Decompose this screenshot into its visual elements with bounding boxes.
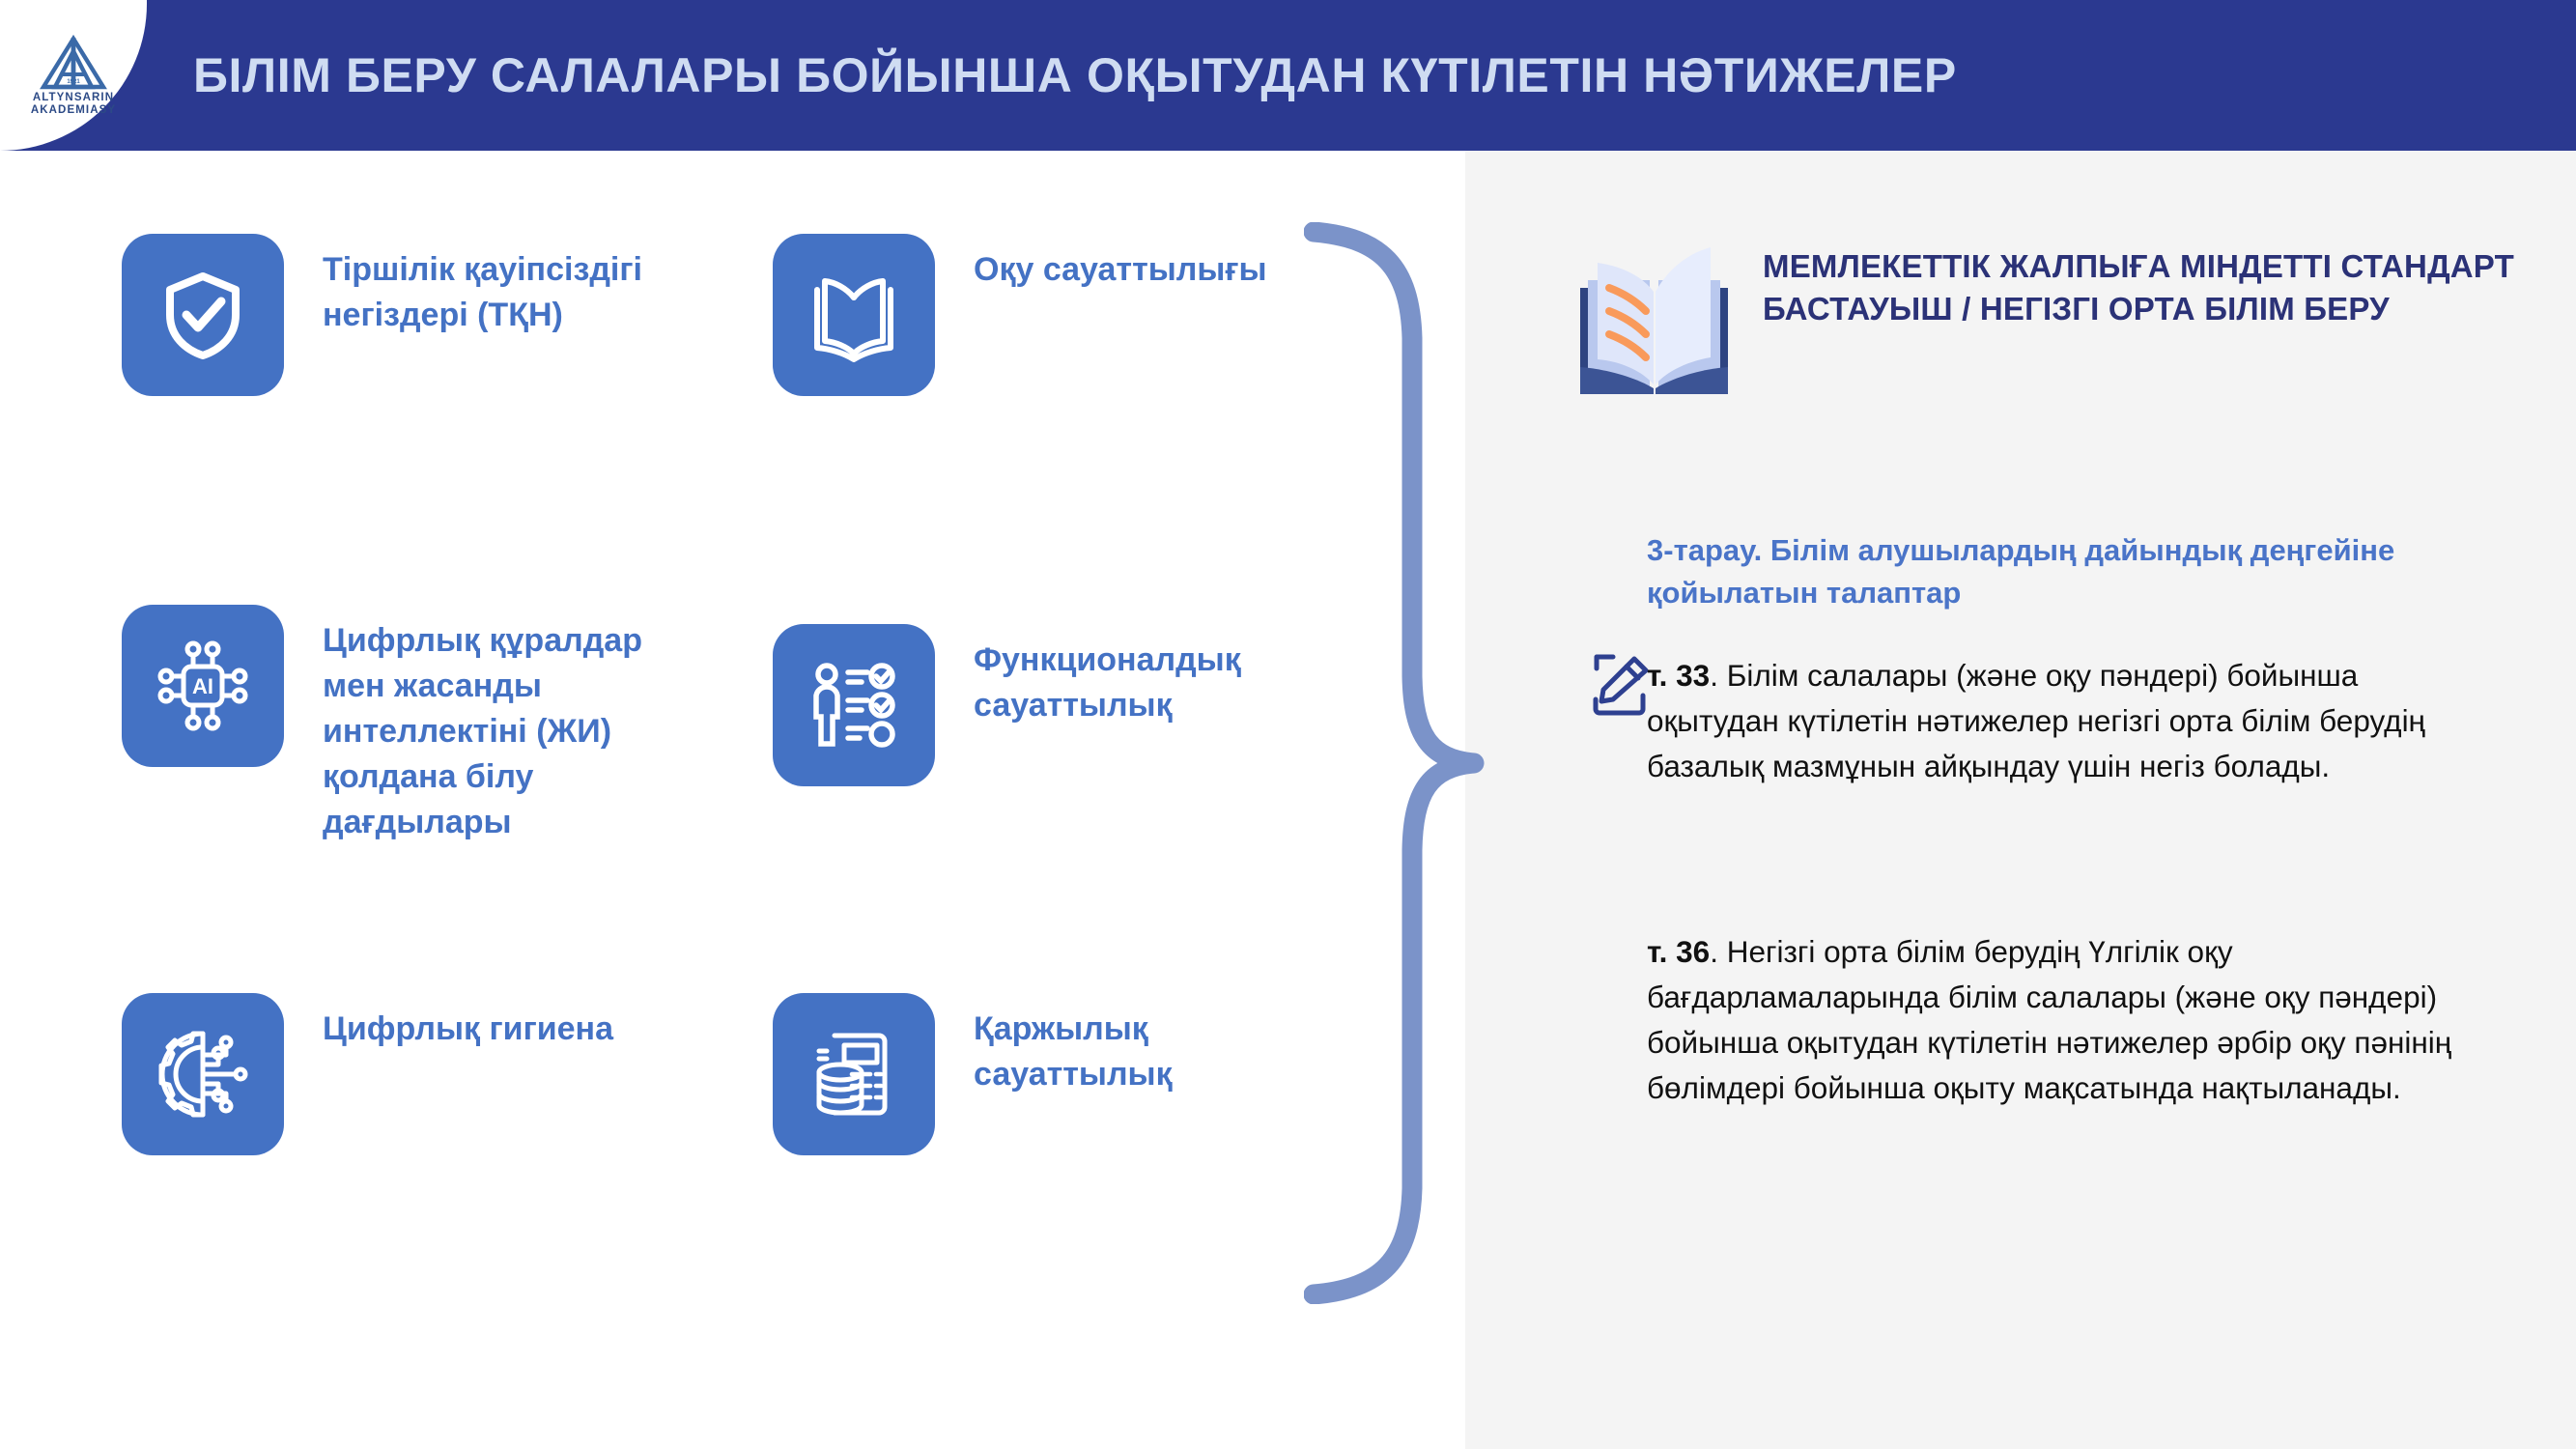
paragraph-marker: т. 36 <box>1647 934 1710 969</box>
competency-tile <box>773 234 935 396</box>
person-checklist-icon <box>804 655 904 755</box>
competency-tile <box>122 993 284 1155</box>
logo-line-2: AKADEMIASY <box>31 104 116 117</box>
competency-label: Функционалдық сауаттылық <box>974 624 1321 728</box>
competency-item-ai-tools[interactable]: AI Цифрлық құралдар мен жасанды интеллек… <box>122 605 670 845</box>
svg-text:AI: AI <box>192 674 213 698</box>
paragraph-text: . Білім салалары (және оқу пәндері) бойы… <box>1647 658 2425 783</box>
competency-item-life-safety[interactable]: Тіршілік қауіпсіздігі негіздері (ТҚН) <box>122 234 670 396</box>
competency-item-digital-hygiene[interactable]: Цифрлық гигиена <box>122 993 613 1155</box>
shield-check-icon <box>153 265 253 365</box>
competency-label: Цифрлық гигиена <box>323 993 613 1052</box>
competency-label: Қаржылық сауаттылық <box>974 993 1321 1097</box>
competency-grid: Тіршілік қауіпсіздігі негіздері (ТҚН) Оқ… <box>0 151 1465 1449</box>
logo-year: 1921 <box>67 79 80 85</box>
ai-chip-icon: AI <box>151 634 255 738</box>
competency-label: Тіршілік қауіпсіздігі негіздері (ТҚН) <box>323 234 670 338</box>
competency-item-financial-literacy[interactable]: Қаржылық сауаттылық <box>773 993 1321 1155</box>
paragraph-33: т. 33. Білім салалары (және оқу пәндері)… <box>1647 653 2497 789</box>
competency-tile <box>773 624 935 786</box>
competency-tile: AI <box>122 605 284 767</box>
right-curly-brace-icon <box>1304 222 1487 1304</box>
competency-label: Цифрлық құралдар мен жасанды интеллектін… <box>323 605 670 845</box>
logo-line-1: ALTYNSARIN <box>33 92 114 104</box>
paragraph-marker: т. 33 <box>1647 658 1710 693</box>
competency-item-functional-literacy[interactable]: Функционалдық сауаттылық <box>773 624 1321 786</box>
open-book-color-icon <box>1574 241 1734 415</box>
gear-circuit-icon <box>151 1022 255 1126</box>
triangle-a-monogram-icon: 1921 <box>38 34 109 92</box>
competency-item-reading-literacy[interactable]: Оқу сауаттылығы <box>773 234 1267 396</box>
paragraph-text: . Негізгі орта білім берудің Үлгілік оқу… <box>1647 934 2451 1105</box>
competency-label: Оқу сауаттылығы <box>974 234 1267 293</box>
page-title: БІЛІМ БЕРУ САЛАЛАРЫ БОЙЫНША ОҚЫТУДАН КҮТ… <box>193 0 2540 151</box>
edit-pencil-document-icon <box>1584 649 1656 721</box>
panel-subtitle: 3-тарау. Білім алушылардың дайындық деңг… <box>1647 529 2497 614</box>
panel-header: МЕМЛЕКЕТТІК ЖАЛПЫҒА МІНДЕТТІ СТАНДАРТ БА… <box>1574 241 2540 415</box>
open-book-icon <box>804 265 904 365</box>
panel-title: МЕМЛЕКЕТТІК ЖАЛПЫҒА МІНДЕТТІ СТАНДАРТ БА… <box>1763 241 2516 330</box>
calculator-coins-icon <box>804 1024 904 1124</box>
competency-tile <box>122 234 284 396</box>
paragraph-36: т. 36. Негізгі орта білім берудің Үлгілі… <box>1647 929 2497 1111</box>
competency-tile <box>773 993 935 1155</box>
